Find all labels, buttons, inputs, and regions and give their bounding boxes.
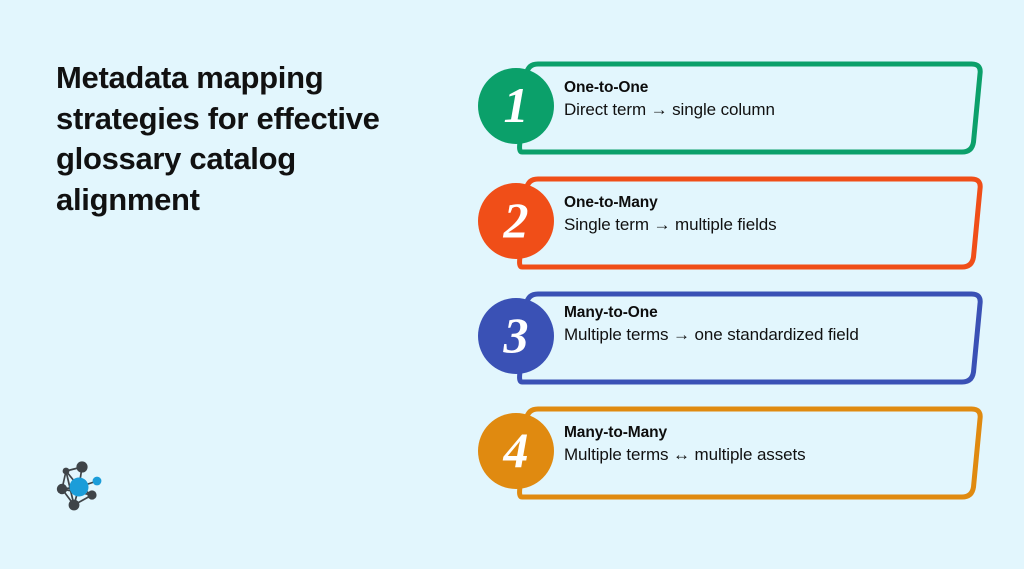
- step-badge: 2: [478, 183, 554, 259]
- step-number: 3: [504, 310, 529, 360]
- card-text-block: One-to-Many Single term → multiple field…: [564, 193, 946, 235]
- card-description: Multiple terms → one standardized field: [564, 324, 939, 345]
- page-title: Metadata mapping strategies for effectiv…: [56, 58, 416, 220]
- card-text-block: One-to-One Direct term → single column: [564, 78, 946, 120]
- step-badge: 3: [478, 298, 554, 374]
- list-item[interactable]: 2 One-to-Many Single term → multiple fie…: [478, 171, 978, 275]
- card-title: One-to-Many: [564, 193, 946, 213]
- card-description: Direct term → single column: [564, 99, 946, 120]
- slide-canvas: Metadata mapping strategies for effectiv…: [0, 0, 1024, 569]
- step-badge: 1: [478, 68, 554, 144]
- list-item[interactable]: 4 Many-to-Many Multiple terms ↔ multiple…: [478, 401, 978, 505]
- card-description: Single term → multiple fields: [564, 214, 946, 235]
- step-number: 2: [504, 195, 529, 245]
- card-text-block: Many-to-One Multiple terms → one standar…: [564, 303, 939, 345]
- step-number: 1: [504, 80, 529, 130]
- card-description: Multiple terms ↔ multiple assets: [564, 444, 946, 465]
- card-title: Many-to-Many: [564, 423, 946, 443]
- card-title: One-to-One: [564, 78, 946, 98]
- list-item[interactable]: 3 Many-to-One Multiple terms → one stand…: [478, 286, 978, 390]
- list-item[interactable]: 1 One-to-One Direct term → single column: [478, 56, 978, 160]
- step-badge: 4: [478, 413, 554, 489]
- card-text-block: Many-to-Many Multiple terms ↔ multiple a…: [564, 423, 946, 465]
- network-graph-logo: [52, 459, 106, 515]
- card-title: Many-to-One: [564, 303, 939, 323]
- step-number: 4: [504, 425, 529, 475]
